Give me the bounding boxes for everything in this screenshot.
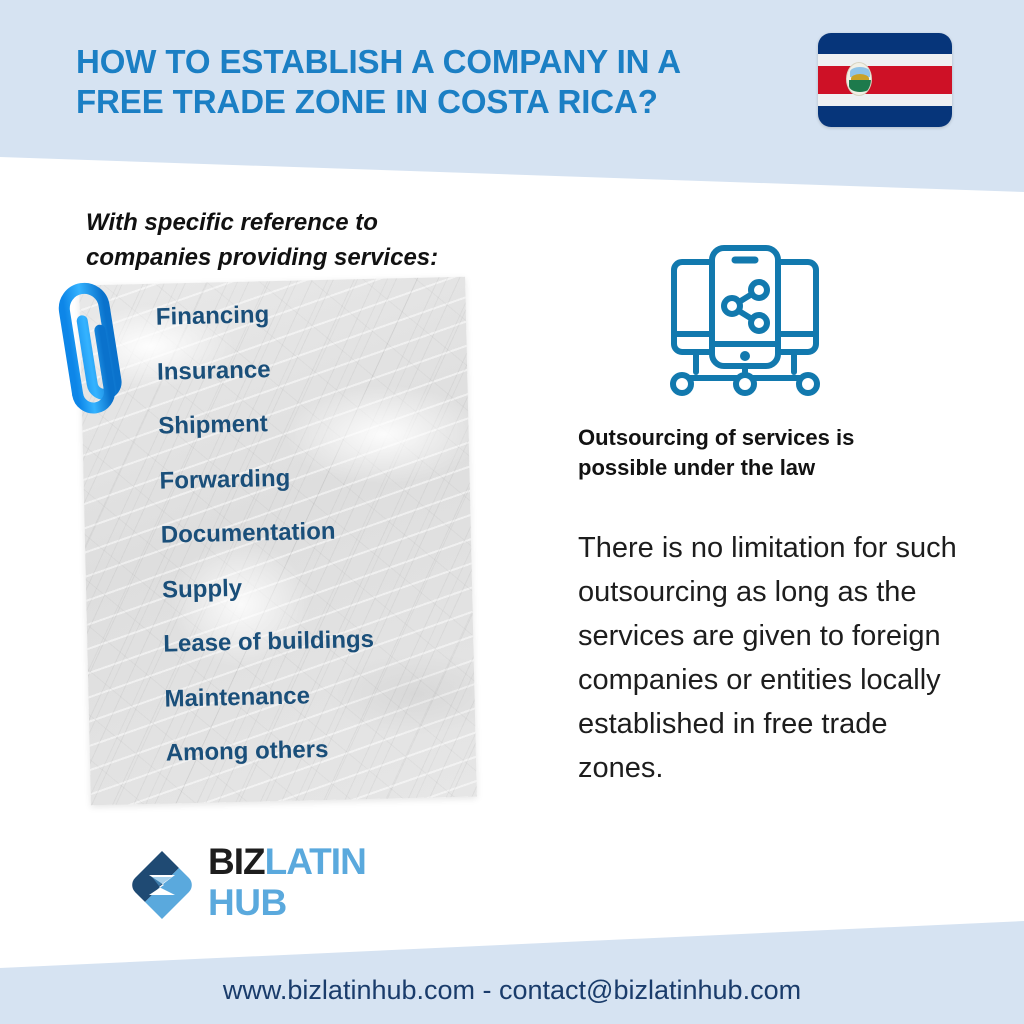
- footer-band: [0, 916, 1024, 1024]
- right-heading: Outsourcing of services is possible unde…: [578, 423, 978, 484]
- coat-of-arms-icon: [846, 62, 872, 96]
- right-heading-line-2: possible under the law: [578, 453, 978, 483]
- intro-line-1: With specific reference to: [86, 206, 486, 241]
- services-list: Financing Insurance Shipment Forwarding …: [156, 298, 487, 796]
- logo-latin: LATIN: [265, 841, 366, 882]
- list-item: Insurance: [157, 353, 477, 384]
- right-heading-line-1: Outsourcing of services is: [578, 423, 978, 453]
- right-body-paragraph: There is no limitation for such outsourc…: [578, 526, 976, 790]
- flag-stripe-navy-top: [818, 33, 952, 54]
- logo-biz: BIZ: [208, 841, 265, 882]
- list-item: Shipment: [158, 407, 478, 438]
- flag-stripe-red: [818, 66, 952, 94]
- list-item: Maintenance: [164, 680, 484, 711]
- share-devices-icon: [660, 238, 830, 398]
- page-title: HOW TO ESTABLISH A COMPANY IN A FREE TRA…: [76, 42, 796, 123]
- flag-stripe-white-bottom: [818, 94, 952, 106]
- list-item: Among others: [166, 734, 486, 765]
- intro-line-2: companies providing services:: [86, 241, 486, 276]
- list-item: Lease of buildings: [163, 625, 483, 656]
- biz-latin-hub-mark-icon: [126, 849, 198, 921]
- costa-rica-flag-icon: [818, 33, 952, 127]
- flag-stripe-navy-bottom: [818, 106, 952, 127]
- coat-sea: [849, 80, 871, 92]
- list-item: Forwarding: [159, 462, 479, 493]
- logo-hub: HUB: [208, 884, 366, 923]
- biz-latin-hub-logo[interactable]: BIZLATIN HUB: [126, 843, 401, 925]
- page-title-line-2: FREE TRADE ZONE IN COSTA RICA?: [76, 82, 796, 122]
- flag-stripe-white-top: [818, 54, 952, 66]
- list-item: Financing: [156, 298, 476, 329]
- page-title-line-1: HOW TO ESTABLISH A COMPANY IN A: [76, 42, 796, 82]
- logo-wordmark: BIZLATIN HUB: [208, 843, 366, 923]
- list-item: Documentation: [161, 516, 481, 547]
- logo-line-1: BIZLATIN: [208, 843, 366, 882]
- intro-text: With specific reference to companies pro…: [86, 206, 486, 276]
- list-item: Supply: [162, 571, 482, 602]
- footer-contact[interactable]: www.bizlatinhub.com - contact@bizlatinhu…: [0, 975, 1024, 1006]
